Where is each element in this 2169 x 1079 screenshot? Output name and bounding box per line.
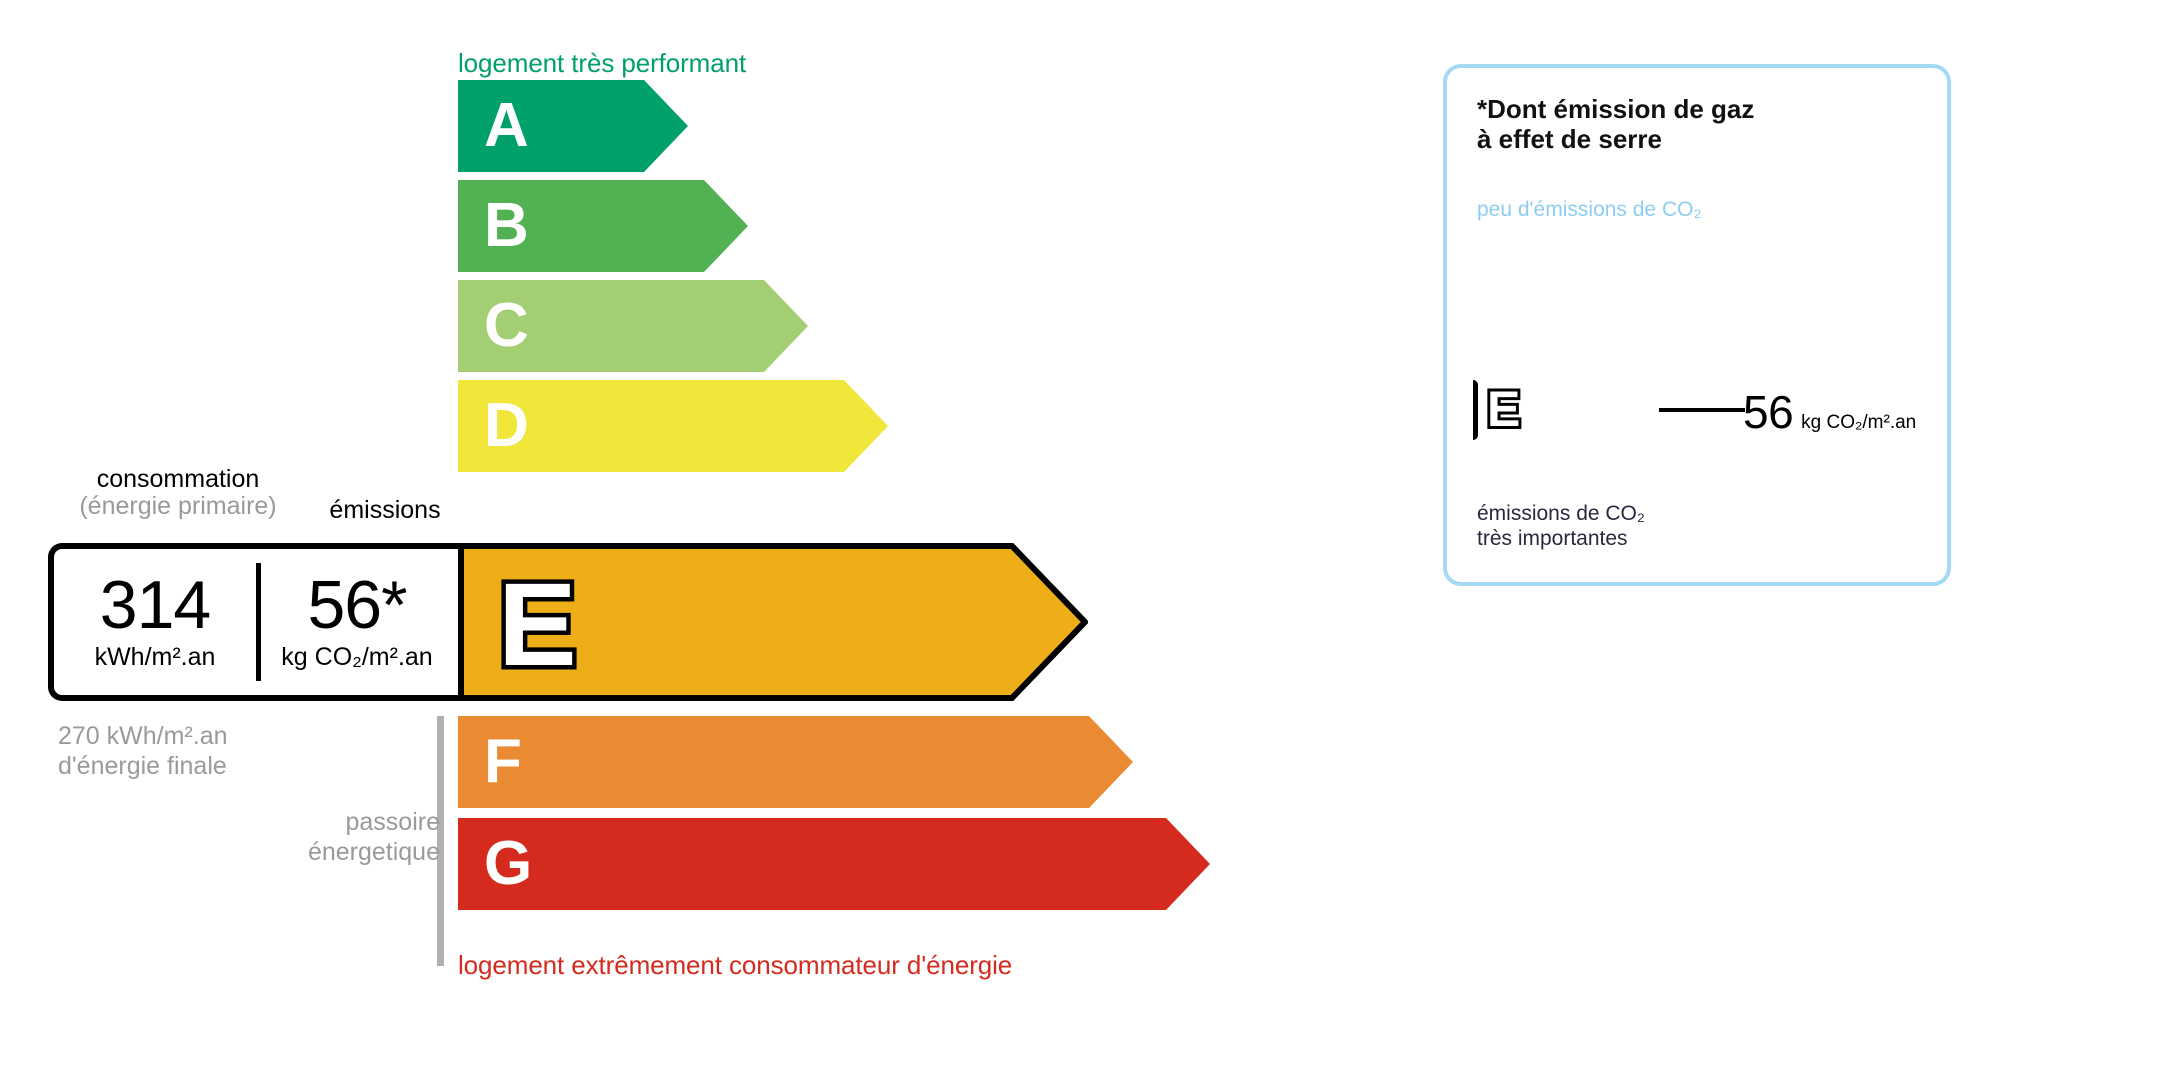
emission-unit: kg CO₂/m².an xyxy=(281,643,432,672)
co2-bar-c-letter: C xyxy=(1489,310,1508,336)
co2-bar-d-letter: D xyxy=(1489,347,1508,373)
energy-arrow-g: G xyxy=(458,818,1210,910)
energy-arrow-e-current: E xyxy=(458,543,1088,701)
energy-top-caption: logement très performant xyxy=(458,48,746,79)
energy-arrow-b: B xyxy=(458,180,748,272)
passoire-label: passoire énergetique xyxy=(240,808,440,867)
co2-callout-leader-line xyxy=(1659,408,1745,412)
co2-callout-value: 56 xyxy=(1743,385,1793,439)
consumption-value: 314 xyxy=(100,572,210,639)
final-energy-note: 270 kWh/m².an d'énergie finale xyxy=(58,722,228,781)
dpe-diagram: logement très performant A B C xyxy=(0,0,2169,1079)
co2-bar-a: A xyxy=(1477,232,1545,266)
co2-bar-d: D xyxy=(1477,343,1615,377)
consumption-unit: kWh/m².an xyxy=(95,643,216,672)
energy-arrow-f-shape xyxy=(458,716,1133,808)
energy-arrow-g-shape xyxy=(458,818,1210,910)
consommation-label: consommation (énergie primaire) xyxy=(48,466,308,520)
co2-bar-e-letter: E xyxy=(1487,381,1520,437)
energy-arrow-f: F xyxy=(458,716,1133,808)
co2-bar-a-letter: A xyxy=(1489,236,1508,262)
energy-consumption-panel: logement très performant A B C xyxy=(0,0,1400,1079)
co2-callout-unit: kg CO₂/m².an xyxy=(1801,412,1916,434)
energy-arrow-d-shape xyxy=(458,380,888,472)
emissions-label: émissions xyxy=(300,496,470,525)
energy-arrow-d: D xyxy=(458,380,888,472)
co2-bar-e-letter-outline: E xyxy=(1473,380,1649,440)
energy-arrow-b-shape xyxy=(458,180,748,272)
energy-arrow-e-letter: E xyxy=(498,559,577,691)
energy-arrow-c: C xyxy=(458,280,808,372)
co2-callout: 56 kg CO₂/m².an xyxy=(1743,385,1916,439)
co2-bottom-caption: émissions de CO₂ très importantes xyxy=(1477,502,1645,552)
consommation-label-sub: (énergie primaire) xyxy=(48,493,308,520)
energy-bottom-caption: logement extrêmement consommateur d'éner… xyxy=(458,950,1012,981)
co2-panel-title: *Dont émission de gaz à effet de serre xyxy=(1477,94,1754,154)
co2-bar-f: F xyxy=(1477,445,1677,479)
emission-cell: 56* kg CO₂/m².an xyxy=(256,549,458,695)
co2-panel: *Dont émission de gaz à effet de serre p… xyxy=(1443,64,1951,586)
consumption-cell: 314 kWh/m².an xyxy=(54,549,256,695)
co2-bar-b: B xyxy=(1477,269,1569,303)
energy-arrow-c-shape xyxy=(458,280,808,372)
energy-arrow-a-shape xyxy=(458,80,688,172)
energy-arrow-a: A xyxy=(458,80,688,172)
co2-bar-f-letter: F xyxy=(1489,449,1505,475)
summary-box: 314 kWh/m².an 56* kg CO₂/m².an xyxy=(48,543,458,701)
co2-top-caption: peu d'émissions de CO₂ xyxy=(1477,198,1702,222)
co2-bar-e-current: E xyxy=(1473,380,1649,440)
emission-value: 56* xyxy=(307,572,406,639)
co2-bar-c: C xyxy=(1477,306,1592,340)
energy-arrow-e-letter-outline: E xyxy=(458,543,1088,701)
consommation-label-main: consommation xyxy=(97,465,260,493)
co2-bar-b-letter: B xyxy=(1489,273,1508,299)
